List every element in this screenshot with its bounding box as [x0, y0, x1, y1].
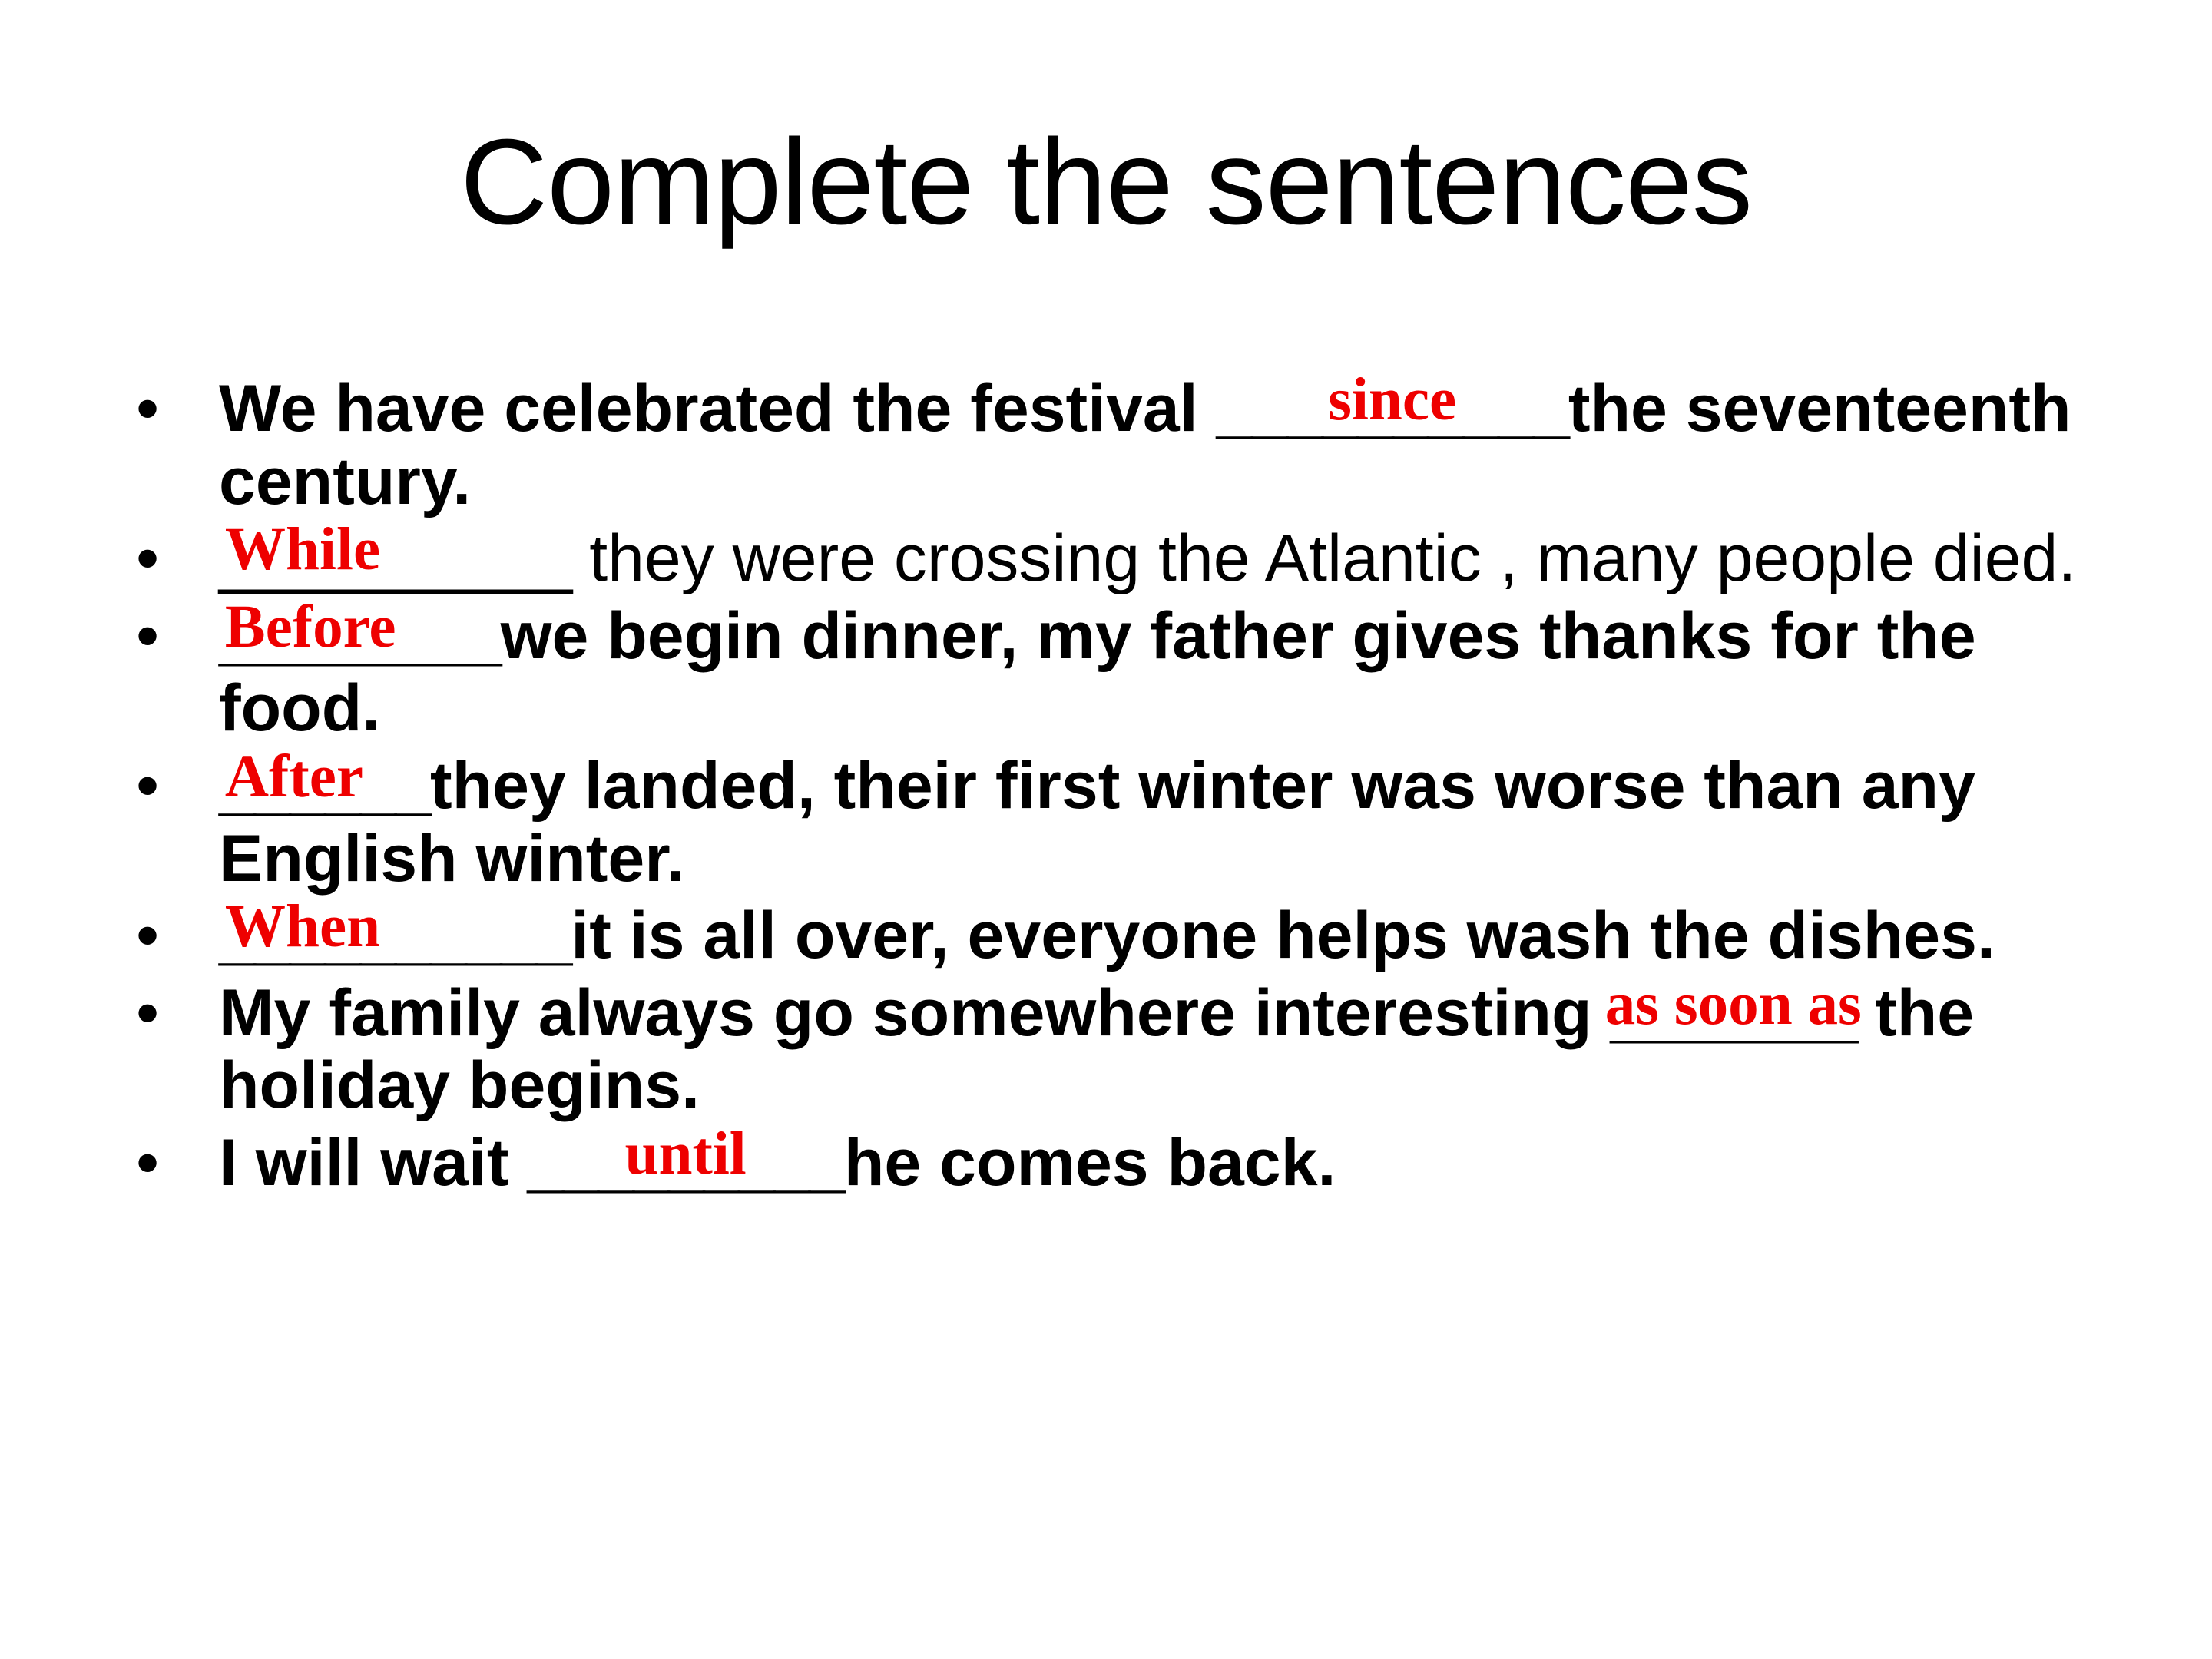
- answer-blank[interactable]: ______After: [219, 750, 430, 823]
- sentence-suffix: they were crossing the Atlantic , many p…: [571, 522, 2076, 595]
- blank-rule: __________: [219, 522, 571, 595]
- sentence-suffix: he comes back.: [844, 1126, 1336, 1200]
- slide-canvas: Complete the sentences • We have celebra…: [0, 0, 2212, 1659]
- bullet-dot-icon: •: [136, 977, 182, 1050]
- bullet-dot-icon: •: [136, 1127, 182, 1200]
- blank-rule: _______: [1610, 977, 1856, 1050]
- list-item[interactable]: • My family always go somewhere interest…: [119, 977, 2147, 1122]
- sentence-prefix: My family always go somewhere interestin…: [219, 976, 1610, 1050]
- page-title: Complete the sentences: [0, 119, 2212, 247]
- blank-rule: __________: [219, 899, 571, 972]
- bullet-dot-icon: •: [136, 522, 182, 595]
- answer-blank[interactable]: _________until: [527, 1127, 843, 1200]
- list-item[interactable]: • __________While they were crossing the…: [119, 522, 2147, 595]
- sentence-prefix: We have celebrated the festival: [219, 372, 1217, 445]
- sentence-text: My family always go somewhere interestin…: [219, 977, 2147, 1122]
- sentence-text: __________While they were crossing the A…: [219, 522, 2147, 595]
- list-item[interactable]: • I will wait _________untilhe comes bac…: [119, 1127, 2147, 1200]
- sentence-text: ______Afterthey landed, their first wint…: [219, 750, 2147, 895]
- answer-blank[interactable]: __________While: [219, 522, 571, 595]
- list-item[interactable]: • ______Afterthey landed, their first wi…: [119, 750, 2147, 895]
- blank-rule: ________: [219, 600, 501, 673]
- blank-rule: ______: [219, 750, 430, 823]
- blank-rule: __________: [1217, 373, 1568, 445]
- answer-blank[interactable]: ________Before: [219, 600, 501, 673]
- answer-blank[interactable]: _______as soon as: [1610, 977, 1856, 1050]
- list-item[interactable]: • We have celebrated the festival ______…: [119, 373, 2147, 518]
- sentence-text: I will wait _________untilhe comes back.: [219, 1127, 2147, 1200]
- blank-rule: _________: [527, 1127, 843, 1200]
- sentence-text: __________Whenit is all over, everyone h…: [219, 899, 2147, 972]
- sentence-suffix: they landed, their first winter was wors…: [219, 749, 1975, 896]
- list-item[interactable]: • __________Whenit is all over, everyone…: [119, 899, 2147, 972]
- bullet-dot-icon: •: [136, 899, 182, 972]
- list-item[interactable]: • ________Beforewe begin dinner, my fath…: [119, 600, 2147, 745]
- sentence-prefix: I will wait: [219, 1126, 527, 1200]
- sentence-text: ________Beforewe begin dinner, my father…: [219, 600, 2147, 745]
- answer-blank[interactable]: __________since: [1217, 373, 1568, 445]
- sentence-list: • We have celebrated the festival ______…: [119, 373, 2147, 1204]
- sentence-suffix: it is all over, everyone helps wash the …: [571, 899, 1995, 972]
- bullet-dot-icon: •: [136, 750, 182, 823]
- answer-blank[interactable]: __________When: [219, 899, 571, 972]
- bullet-dot-icon: •: [136, 600, 182, 673]
- bullet-dot-icon: •: [136, 373, 182, 445]
- sentence-text: We have celebrated the festival ________…: [219, 373, 2147, 518]
